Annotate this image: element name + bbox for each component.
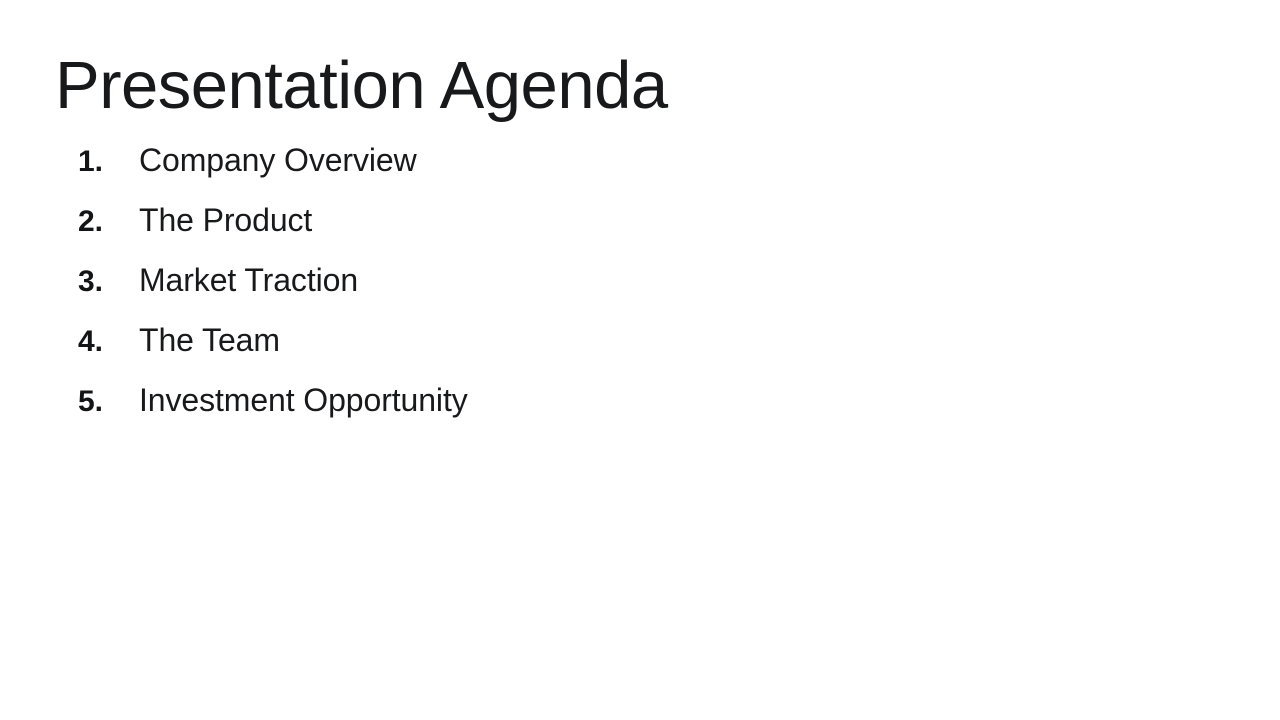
list-item-number: 4. [55, 325, 103, 359]
list-item[interactable]: 1. Company Overview [55, 142, 955, 202]
presentation-slide: Presentation Agenda 1. Company Overview … [0, 0, 1280, 720]
list-item[interactable]: 3. Market Traction [55, 262, 955, 322]
list-item-label: The Team [139, 322, 280, 359]
list-item[interactable]: 5. Investment Opportunity [55, 382, 955, 442]
list-item[interactable]: 4. The Team [55, 322, 955, 382]
page-title: Presentation Agenda [55, 52, 668, 119]
agenda-list: 1. Company Overview 2. The Product 3. Ma… [55, 142, 955, 442]
list-item-label: The Product [139, 202, 312, 239]
list-item-number: 1. [55, 145, 103, 179]
list-item-number: 2. [55, 205, 103, 239]
list-item-number: 5. [55, 385, 103, 419]
list-item-label: Market Traction [139, 262, 358, 299]
list-item-label: Investment Opportunity [139, 382, 468, 419]
list-item-label: Company Overview [139, 142, 417, 179]
list-item[interactable]: 2. The Product [55, 202, 955, 262]
list-item-number: 3. [55, 265, 103, 299]
